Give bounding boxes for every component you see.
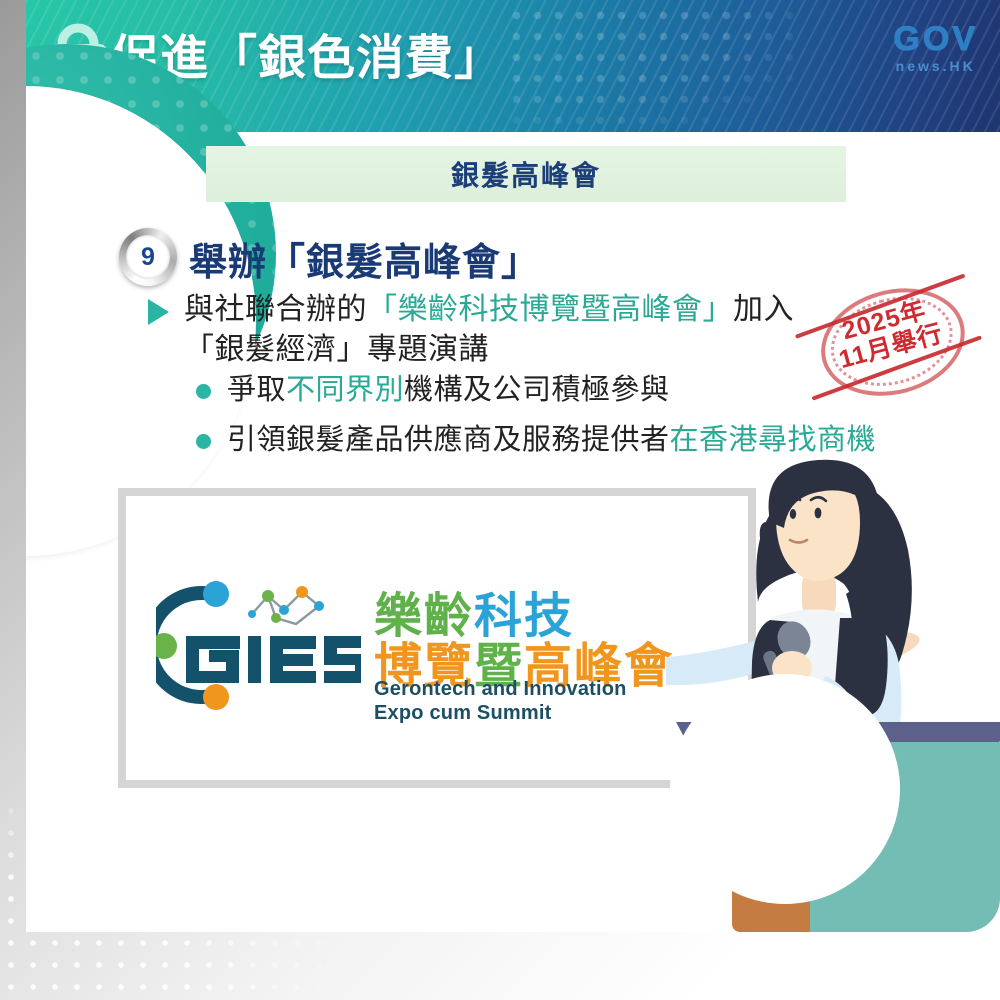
main-bullet-post: 加入 <box>733 293 794 326</box>
gies-english-name: Gerontech and Innovation Expo cum Summit <box>374 678 627 725</box>
triangle-bullet-icon <box>148 299 169 325</box>
section-number-badge: 9 <box>119 228 177 286</box>
header-dot-pattern <box>506 0 806 132</box>
sub-bullet-2-pre: 引領銀髮產品供應商及服務提供者 <box>227 424 670 456</box>
sub-bullet-1-pre: 爭取 <box>227 374 286 406</box>
section-number: 9 <box>126 235 170 279</box>
content-card: $ 促進「銀色消費」 GOV news.HK 銀髮高峰會 9 舉辦「銀髮高峰會」… <box>26 0 1000 932</box>
sub-bullet-1-highlight: 不同界別 <box>286 374 404 406</box>
main-bullet-quote-open: 「 <box>367 293 398 326</box>
main-bullet-text: 與社聯合辦的「樂齡科技博覽暨高峰會」加入「銀髮經濟」專題演講 <box>184 290 828 369</box>
speaker-eye-right <box>815 508 822 519</box>
logo-newshk-text: news.HK <box>893 59 978 73</box>
logo-gov-text: GOV <box>893 22 978 56</box>
main-bullet-quote-close: 」 <box>703 293 734 326</box>
sub-bullet-1-post: 機構及公司積極參與 <box>404 374 670 406</box>
gies-en-line1: Gerontech and Innovation <box>374 678 627 702</box>
photo-panel: 樂齡科技 博覽暨高峰會 Gerontech and Innovation Exp… <box>118 488 756 788</box>
infographic-page: $ 促進「銀色消費」 GOV news.HK 銀髮高峰會 9 舉辦「銀髮高峰會」… <box>0 0 1000 1000</box>
photo-panel-inner: 樂齡科技 博覽暨高峰會 Gerontech and Innovation Exp… <box>126 496 748 780</box>
speaker-eye-left <box>790 509 796 519</box>
main-bullet-highlight: 樂齡科技博覽暨高峰會 <box>398 293 703 326</box>
gies-en-line2: Expo cum Summit <box>374 702 627 726</box>
govnews-logo: GOV news.HK <box>893 22 978 73</box>
main-bullet-pre: 與社聯合辦的 <box>184 293 367 326</box>
section-headline: 舉辦「銀髮高峰會」 <box>189 231 540 286</box>
main-bullet: 與社聯合辦的「樂齡科技博覽暨高峰會」加入「銀髮經濟」專題演講 <box>148 290 828 369</box>
dot-bullet-icon <box>196 434 211 449</box>
bottom-right-white-circle <box>670 674 900 904</box>
section-band-title: 銀髮高峰會 <box>451 154 601 194</box>
dot-bullet-icon <box>196 384 211 399</box>
section-band: 銀髮高峰會 <box>206 146 846 202</box>
gies-logo: 樂齡科技 博覽暨高峰會 Gerontech and Innovation Exp… <box>156 574 736 724</box>
main-bullet-line2: 「銀髮經濟」專題演講 <box>184 333 489 366</box>
gies-mark-icon <box>156 580 361 710</box>
